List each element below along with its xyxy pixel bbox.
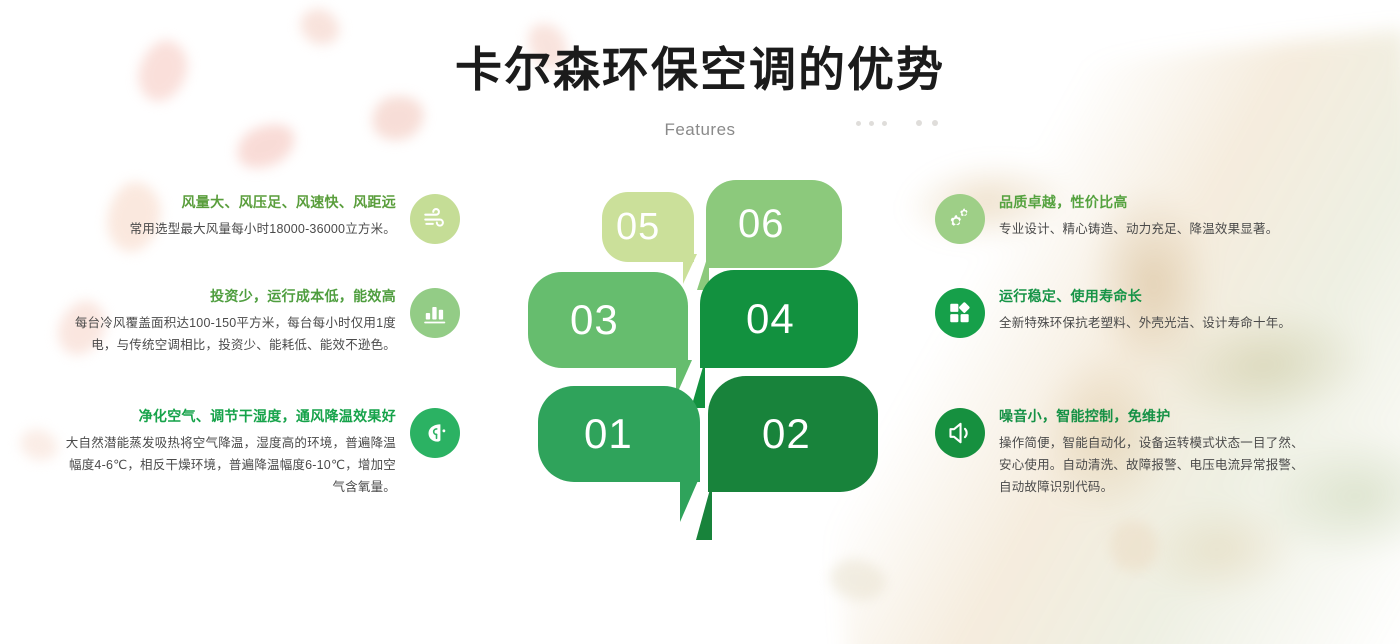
page-title: 卡尔森环保空调的优势 bbox=[0, 42, 1400, 98]
feature-desc-05: 常用选型最大风量每小时18000-36000立方米。 bbox=[60, 219, 396, 241]
feature-text-06: 品质卓越，性价比高 专业设计、精心铸造、动力充足、降温效果显著。 bbox=[985, 192, 1315, 241]
feature-text-05: 风量大、风压足、风速快、风距远 常用选型最大风量每小时18000-36000立方… bbox=[60, 192, 410, 241]
blocks-icon bbox=[935, 288, 985, 338]
page-header: 卡尔森环保空调的优势 Features bbox=[0, 0, 1400, 140]
feature-item-05[interactable]: 风量大、风压足、风速快、风距远 常用选型最大风量每小时18000-36000立方… bbox=[60, 192, 480, 244]
feature-item-02[interactable]: 噪音小，智能控制，免维护 操作简便，智能自动化，设备运转模式状态一目了然、安心使… bbox=[935, 406, 1335, 499]
feature-text-02: 噪音小，智能控制，免维护 操作简便，智能自动化，设备运转模式状态一目了然、安心使… bbox=[985, 406, 1315, 499]
feature-item-04[interactable]: 运行稳定、使用寿命长 全新特殊环保抗老塑料、外壳光洁、设计寿命十年。 bbox=[935, 286, 1335, 338]
feature-title-04: 运行稳定、使用寿命长 bbox=[999, 286, 1315, 307]
leaf-number-01: 01 bbox=[584, 410, 633, 458]
feature-item-01[interactable]: 净化空气、调节干湿度，通风降温效果好 大自然潜能蒸发吸热将空气降温，湿度高的环境… bbox=[60, 406, 480, 499]
speaker-icon bbox=[935, 408, 985, 458]
leaf-badge-01[interactable]: 01 bbox=[538, 386, 700, 482]
leaf-badge-02[interactable]: 02 bbox=[708, 376, 878, 492]
eco-leaf-icon bbox=[410, 408, 460, 458]
feature-text-04: 运行稳定、使用寿命长 全新特殊环保抗老塑料、外壳光洁、设计寿命十年。 bbox=[985, 286, 1315, 335]
leaf-number-04: 04 bbox=[746, 295, 795, 343]
leaf-badge-05[interactable]: 05 bbox=[602, 192, 694, 262]
leaf-badge-03[interactable]: 03 bbox=[528, 272, 688, 368]
feature-desc-06: 专业设计、精心铸造、动力充足、降温效果显著。 bbox=[999, 219, 1315, 241]
leaf-number-06: 06 bbox=[738, 202, 785, 247]
feature-title-05: 风量大、风压足、风速快、风距远 bbox=[60, 192, 396, 213]
petal-decoration bbox=[826, 554, 890, 606]
feature-desc-01: 大自然潜能蒸发吸热将空气降温，湿度高的环境，普遍降温幅度4-6℃，相反干燥环境，… bbox=[60, 433, 396, 499]
feature-title-01: 净化空气、调节干湿度，通风降温效果好 bbox=[60, 406, 396, 427]
leaf-number-03: 03 bbox=[570, 296, 619, 344]
leaf-badge-06[interactable]: 06 bbox=[706, 180, 842, 268]
bar-chart-icon bbox=[410, 288, 460, 338]
petal-decoration bbox=[16, 424, 62, 466]
wind-icon bbox=[410, 194, 460, 244]
feature-text-03: 投资少，运行成本低，能效高 每台冷风覆盖面积达100-150平方米，每台每小时仅… bbox=[60, 286, 410, 357]
feature-desc-03: 每台冷风覆盖面积达100-150平方米，每台每小时仅用1度电，与传统空调相比，投… bbox=[60, 313, 396, 357]
gears-icon bbox=[935, 194, 985, 244]
leaf-number-05: 05 bbox=[616, 206, 660, 249]
feature-item-06[interactable]: 品质卓越，性价比高 专业设计、精心铸造、动力充足、降温效果显著。 bbox=[935, 192, 1335, 244]
feature-title-06: 品质卓越，性价比高 bbox=[999, 192, 1315, 213]
feature-title-02: 噪音小，智能控制，免维护 bbox=[999, 406, 1315, 427]
leaf-tip-01 bbox=[680, 476, 700, 522]
page-subtitle: Features bbox=[0, 120, 1400, 140]
leaf-tree-graphic: 05 06 03 04 01 02 bbox=[510, 170, 890, 550]
leaf-number-02: 02 bbox=[762, 410, 811, 458]
feature-title-03: 投资少，运行成本低，能效高 bbox=[60, 286, 396, 307]
feature-item-03[interactable]: 投资少，运行成本低，能效高 每台冷风覆盖面积达100-150平方米，每台每小时仅… bbox=[60, 286, 480, 357]
petal-decoration bbox=[1103, 514, 1165, 578]
feature-desc-04: 全新特殊环保抗老塑料、外壳光洁、设计寿命十年。 bbox=[999, 313, 1315, 335]
feature-text-01: 净化空气、调节干湿度，通风降温效果好 大自然潜能蒸发吸热将空气降温，湿度高的环境… bbox=[60, 406, 410, 499]
infographic-page: 卡尔森环保空调的优势 Features 05 06 03 04 01 02 bbox=[0, 0, 1400, 644]
leaf-badge-04[interactable]: 04 bbox=[700, 270, 858, 368]
feature-desc-02: 操作简便，智能自动化，设备运转模式状态一目了然、安心使用。自动清洗、故障报警、电… bbox=[999, 433, 1315, 499]
